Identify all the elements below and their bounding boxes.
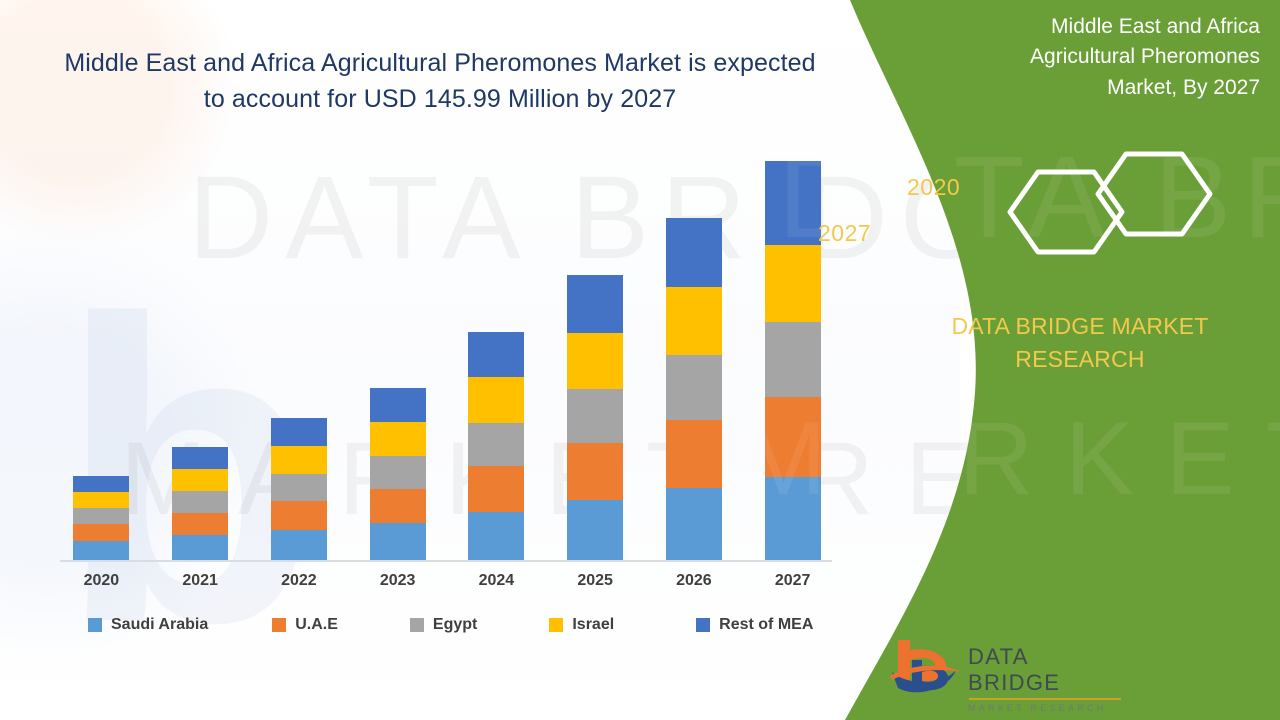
legend-label: Saudi Arabia <box>111 616 208 634</box>
logo-wordmark: DATA BRIDGE MARKET RESEARCH <box>968 644 1121 713</box>
legend-label: Egypt <box>433 616 477 634</box>
bar-segment-egypt <box>666 355 722 420</box>
bar-segment-rest-of-mea <box>666 218 722 287</box>
bar-segment-egypt <box>271 474 327 501</box>
bar-segment-u-a-e <box>567 443 623 500</box>
bar-segment-saudi-arabia <box>370 523 426 560</box>
bar-column-2022 <box>265 150 333 560</box>
logo-b-icon <box>890 636 964 698</box>
bar-segment-u-a-e <box>666 420 722 488</box>
bar-segment-egypt <box>370 456 426 489</box>
bar-segment-u-a-e <box>172 513 228 536</box>
bar-segment-rest-of-mea <box>370 388 426 422</box>
chart-legend: Saudi ArabiaU.A.EEgyptIsraelRest of MEA <box>88 616 818 634</box>
legend-swatch-icon <box>696 618 710 632</box>
bar-column-2025 <box>561 150 629 560</box>
bar-segment-israel <box>172 469 228 491</box>
bar-column-2024 <box>462 150 530 560</box>
bar-segment-u-a-e <box>271 501 327 529</box>
hexagon-label-2027: 2027 <box>818 220 871 247</box>
panel-brand-name: DATA BRIDGE MARKET RESEARCH <box>910 310 1250 375</box>
stacked-bar <box>73 476 129 560</box>
x-axis-line <box>60 560 832 562</box>
bar-segment-rest-of-mea <box>567 275 623 333</box>
hexagon-outlines <box>990 150 1250 290</box>
stacked-bar <box>666 218 722 560</box>
panel-title: Middle East and Africa Agricultural Pher… <box>960 12 1260 103</box>
bar-segment-u-a-e <box>370 489 426 523</box>
legend-swatch-icon <box>410 618 424 632</box>
bar-segment-egypt <box>468 423 524 466</box>
green-side-panel: DATA BRIDGE MARKET RESEARCH Middle East … <box>760 0 1280 720</box>
stacked-bar <box>271 418 327 560</box>
hexagon-group <box>990 150 1250 290</box>
bar-segment-saudi-arabia <box>73 541 129 560</box>
bar-segment-rest-of-mea <box>468 332 524 378</box>
bar-column-2026 <box>660 150 728 560</box>
bar-segment-rest-of-mea <box>172 447 228 469</box>
stacked-bar <box>370 388 426 560</box>
bar-segment-rest-of-mea <box>271 418 327 446</box>
logo-divider <box>969 698 1121 700</box>
logo-name: DATA BRIDGE <box>968 644 1121 696</box>
x-axis-label-2025: 2025 <box>561 572 629 590</box>
panel-watermark-bottom: MARKET RESEARCH <box>760 400 1280 519</box>
legend-swatch-icon <box>549 618 563 632</box>
bar-segment-saudi-arabia <box>172 535 228 560</box>
legend-label: U.A.E <box>295 616 338 634</box>
x-axis-label-2020: 2020 <box>67 572 135 590</box>
stacked-bar <box>172 447 228 560</box>
legend-swatch-icon <box>272 618 286 632</box>
bar-column-2020 <box>67 150 135 560</box>
bar-segment-saudi-arabia <box>271 530 327 560</box>
bar-segment-egypt <box>73 508 129 524</box>
bar-segment-egypt <box>172 491 228 512</box>
legend-item-u-a-e[interactable]: U.A.E <box>272 616 338 634</box>
bar-segment-israel <box>666 287 722 355</box>
stacked-bar-chart <box>52 150 842 560</box>
bar-segment-saudi-arabia <box>468 512 524 560</box>
bar-segment-saudi-arabia <box>567 500 623 560</box>
hexagon-label-2020: 2020 <box>907 174 960 201</box>
chart-plot-area <box>52 150 842 560</box>
bar-segment-israel <box>271 446 327 474</box>
legend-label: Israel <box>572 616 614 634</box>
bar-segment-israel <box>370 422 426 456</box>
bar-segment-u-a-e <box>468 466 524 512</box>
hexagon-2020 <box>1098 154 1210 234</box>
x-axis-label-2026: 2026 <box>660 572 728 590</box>
x-axis-labels: 20202021202220232024202520262027 <box>52 572 842 590</box>
stacked-bar <box>567 275 623 560</box>
legend-swatch-icon <box>88 618 102 632</box>
bar-segment-rest-of-mea <box>73 476 129 491</box>
bar-segment-u-a-e <box>73 524 129 541</box>
x-axis-label-2024: 2024 <box>462 572 530 590</box>
infographic-canvas: b DATA BRIDGE MARKET RESEARCH Middle Eas… <box>0 0 1280 720</box>
legend-item-saudi-arabia[interactable]: Saudi Arabia <box>88 616 208 634</box>
bar-column-2021 <box>166 150 234 560</box>
bar-segment-saudi-arabia <box>666 488 722 560</box>
x-axis-label-2023: 2023 <box>364 572 432 590</box>
x-axis-label-2022: 2022 <box>265 572 333 590</box>
bar-column-2023 <box>364 150 432 560</box>
bar-segment-israel <box>567 333 623 389</box>
bar-segment-israel <box>73 492 129 509</box>
x-axis-label-2021: 2021 <box>166 572 234 590</box>
bar-segment-israel <box>468 377 524 422</box>
headline-title: Middle East and Africa Agricultural Pher… <box>60 46 820 117</box>
data-bridge-logo: DATA BRIDGE MARKET RESEARCH <box>890 636 1110 706</box>
stacked-bar <box>468 332 524 560</box>
bar-segment-egypt <box>567 389 623 443</box>
logo-tagline: MARKET RESEARCH <box>968 703 1121 713</box>
legend-item-egypt[interactable]: Egypt <box>410 616 477 634</box>
legend-item-israel[interactable]: Israel <box>549 616 614 634</box>
